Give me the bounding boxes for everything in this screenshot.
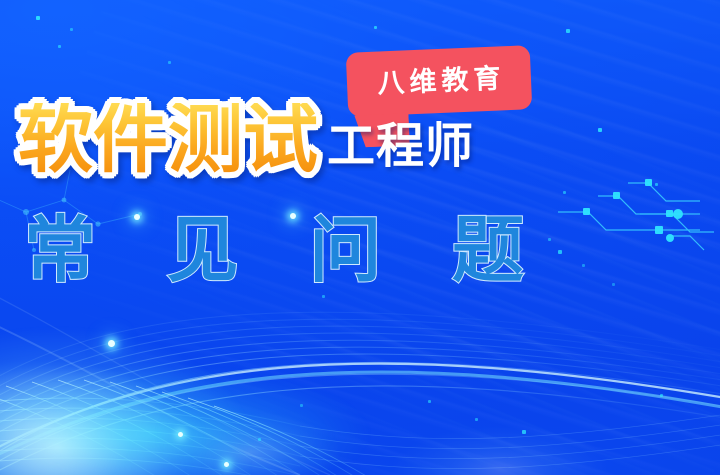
particle-decor — [598, 128, 602, 132]
particle-decor — [258, 438, 261, 441]
subheadline-char: 常 — [24, 213, 96, 289]
particle-decor — [558, 250, 562, 254]
particle-decor — [374, 26, 377, 29]
particle-decor — [300, 404, 303, 407]
particle-glow-decor — [108, 340, 115, 347]
particle-decor — [522, 430, 526, 434]
particle-decor — [58, 45, 61, 48]
particle-decor — [36, 16, 40, 20]
particle-decor — [168, 61, 171, 64]
particle-decor — [612, 283, 615, 286]
subheadline-row: 常 见 问 题 — [24, 213, 524, 289]
particle-decor — [660, 394, 663, 397]
promo-banner: 八维教育 软件测试 工程师 常 见 问 题 — [0, 0, 720, 475]
particle-decor — [655, 183, 658, 186]
headline-row: 软件测试 工程师 — [18, 103, 474, 175]
particle-decor — [548, 238, 551, 241]
particle-glow-decor — [224, 462, 229, 467]
particle-decor — [475, 418, 478, 421]
particle-decor — [566, 29, 570, 33]
subheadline-char: 问 — [309, 213, 381, 289]
subheadline-char: 题 — [452, 213, 524, 289]
particle-decor — [582, 264, 585, 267]
headline-primary: 软件测试 — [18, 103, 318, 175]
particle-glow-decor — [178, 432, 183, 437]
particle-decor — [563, 191, 566, 194]
particle-decor — [322, 295, 325, 298]
particle-decor — [70, 28, 73, 31]
particle-decor — [428, 400, 431, 403]
headline-secondary: 工程师 — [327, 122, 474, 170]
subheadline-char: 见 — [167, 213, 239, 289]
brand-badge-label: 八维教育 — [372, 65, 506, 98]
